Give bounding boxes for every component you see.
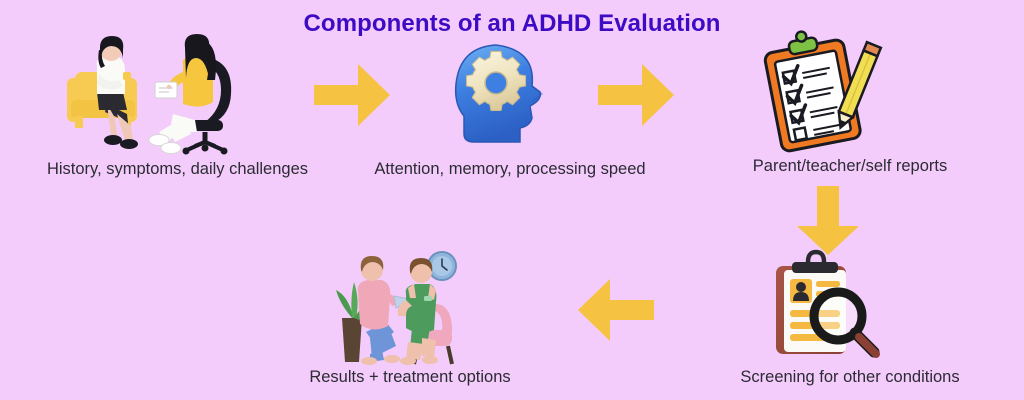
arrow-right-1 [314,62,392,128]
adhd-evaluation-infographic: Components of an ADHD Evaluation [0,0,1024,400]
arrow-left-1 [578,277,656,343]
caption-cognitive-testing: Attention, memory, processing speed [345,160,675,179]
head-with-gear-icon [448,42,558,150]
caption-rating-scales: Parent/teacher/self reports [700,157,1000,176]
clipboard-checklist-pencil-icon [758,28,882,154]
caption-feedback-session: Results + treatment options [270,368,550,387]
arrow-right-2 [598,62,676,128]
arrow-down-1 [795,186,861,256]
therapy-session-illustration [55,28,255,156]
caption-clinical-interview: History, symptoms, daily challenges [0,160,355,179]
caption-differential-screening: Screening for other conditions [690,368,1010,387]
clipboard-magnifier-icon [762,252,884,364]
counseling-session-illustration [326,246,476,366]
